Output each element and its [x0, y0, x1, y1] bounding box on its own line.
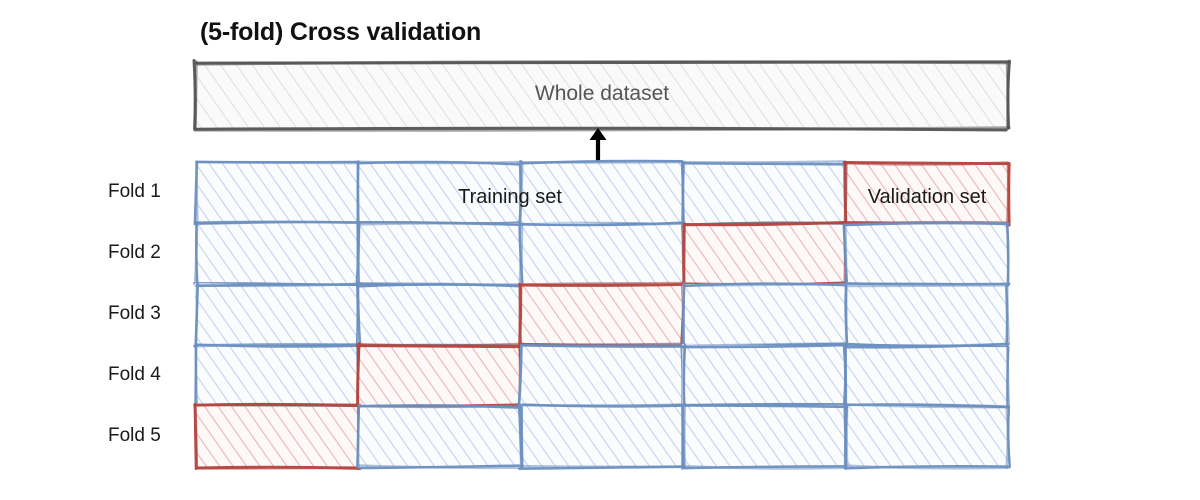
training-block: [519, 161, 685, 225]
training-block: [519, 222, 684, 286]
fold-label-4: Fold 4: [108, 364, 194, 386]
validation-block: [682, 222, 847, 285]
training-block: [844, 344, 1009, 408]
validation-block: [195, 404, 361, 468]
validation-block: [357, 344, 522, 408]
fold-row: [194, 161, 1009, 225]
whole-dataset-outline: [194, 60, 1010, 130]
training-block: [682, 405, 847, 469]
training-block: [845, 283, 1010, 347]
validation-block: [519, 283, 685, 347]
fold-label-5: Fold 5: [108, 425, 194, 447]
up-arrow-icon: [590, 128, 607, 162]
training-block: [681, 161, 847, 225]
fold-label-1: Fold 1: [108, 181, 194, 203]
training-block: [681, 344, 847, 408]
training-block: [844, 222, 1009, 286]
training-block: [357, 222, 523, 286]
folds-grid: [194, 161, 1009, 469]
training-block: [195, 344, 360, 407]
fold-label-2: Fold 2: [108, 242, 194, 264]
fold-label-3: Fold 3: [108, 303, 194, 325]
page-title: (5-fold) Cross validation: [200, 18, 481, 47]
training-block: [519, 344, 685, 408]
training-block: [519, 405, 685, 469]
training-block: [194, 161, 359, 225]
training-block: [357, 161, 522, 224]
cross-validation-diagram: (5-fold) Cross validation Whole dataset …: [0, 0, 1200, 500]
fold-row: [194, 222, 1008, 287]
whole-dataset-box: [194, 60, 1010, 130]
training-block: [194, 222, 360, 287]
training-block: [357, 284, 522, 347]
fold-row: [194, 283, 1009, 347]
training-block: [682, 283, 848, 347]
fold-row: [195, 404, 1010, 468]
training-block: [357, 405, 522, 468]
fold-row: [195, 344, 1009, 408]
training-block: [194, 283, 359, 347]
validation-block: [844, 162, 1009, 225]
training-block: [845, 404, 1010, 468]
